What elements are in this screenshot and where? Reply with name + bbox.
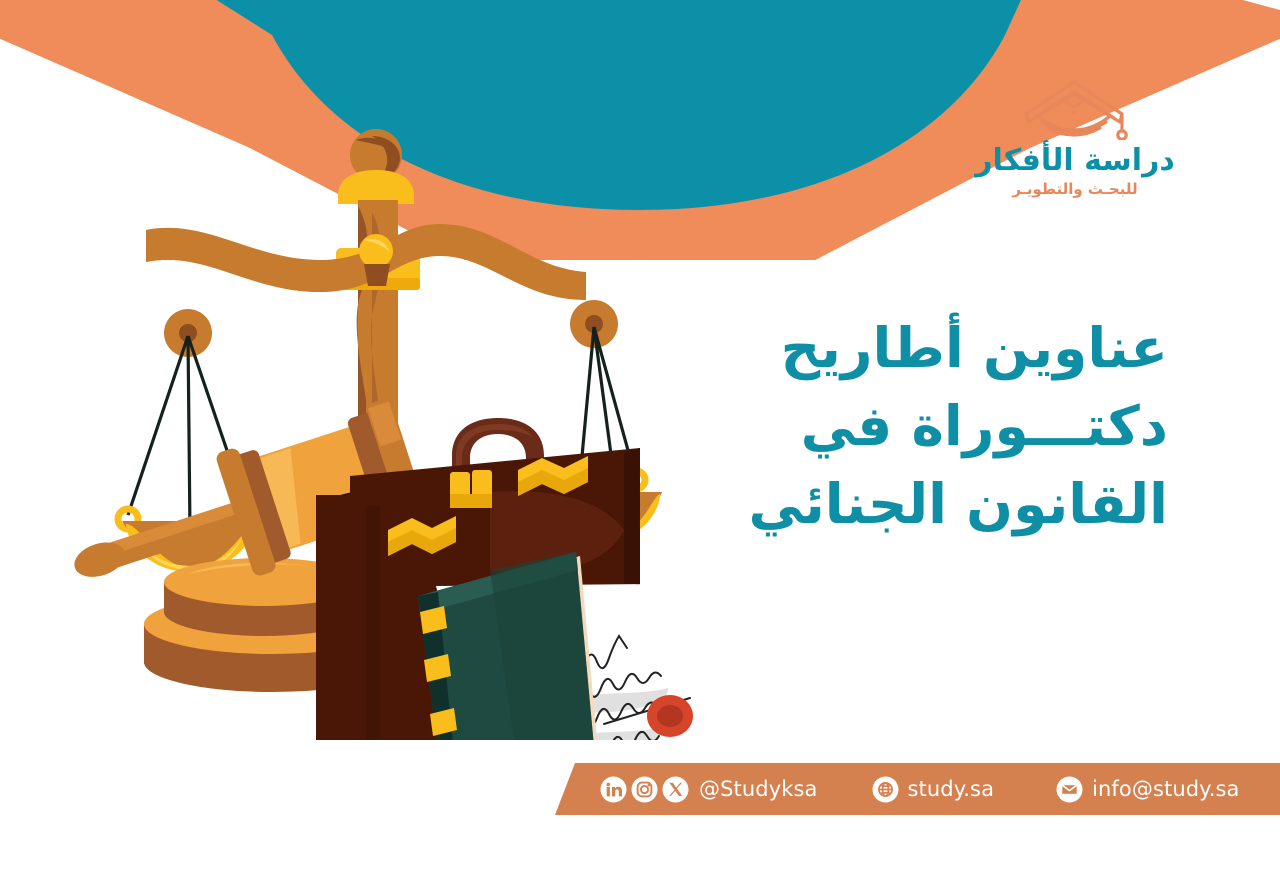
footer-contact-bar: @Studyksa study.sa	[600, 763, 1280, 815]
instagram-icon[interactable]	[631, 776, 658, 803]
globe-icon[interactable]	[872, 776, 899, 803]
scale-gold-collar	[338, 170, 414, 204]
linkedin-icon[interactable]	[600, 776, 627, 803]
headline-line-3: القانون الجنائي	[698, 465, 1168, 543]
footer-website-group[interactable]: study.sa	[872, 776, 995, 803]
footer-website-label[interactable]: study.sa	[908, 777, 995, 801]
x-twitter-icon[interactable]	[662, 776, 689, 803]
scale-center-pin	[359, 234, 393, 268]
graduation-cap-icon	[1010, 78, 1140, 140]
wax-seal	[647, 695, 693, 737]
footer-email-group[interactable]: info@study.sa	[1056, 776, 1239, 803]
page-title: عناوين أطاريح دكتـــوراة في القانون الجن…	[698, 309, 1168, 543]
justice-illustration	[20, 100, 720, 740]
footer-social-group[interactable]: @Studyksa	[600, 776, 818, 803]
footer-social-handle[interactable]: @Studyksa	[699, 777, 818, 801]
banner-white-right	[1243, 0, 1280, 10]
scale-left-strings	[128, 336, 248, 532]
headline-line-1: عناوين أطاريح	[698, 309, 1168, 387]
logo-subtitle: للبحـث والتطويـر	[970, 180, 1180, 198]
poster-canvas: دراسة الأفكار للبحـث والتطويـر عناوين أط…	[0, 0, 1280, 881]
footer-email-label[interactable]: info@study.sa	[1092, 777, 1239, 801]
headline-line-2: دكتـــوراة في	[698, 387, 1168, 465]
logo-title: دراسة الأفكار	[970, 144, 1180, 179]
brand-logo[interactable]: دراسة الأفكار للبحـث والتطويـر	[970, 78, 1180, 198]
envelope-icon[interactable]	[1056, 776, 1083, 803]
